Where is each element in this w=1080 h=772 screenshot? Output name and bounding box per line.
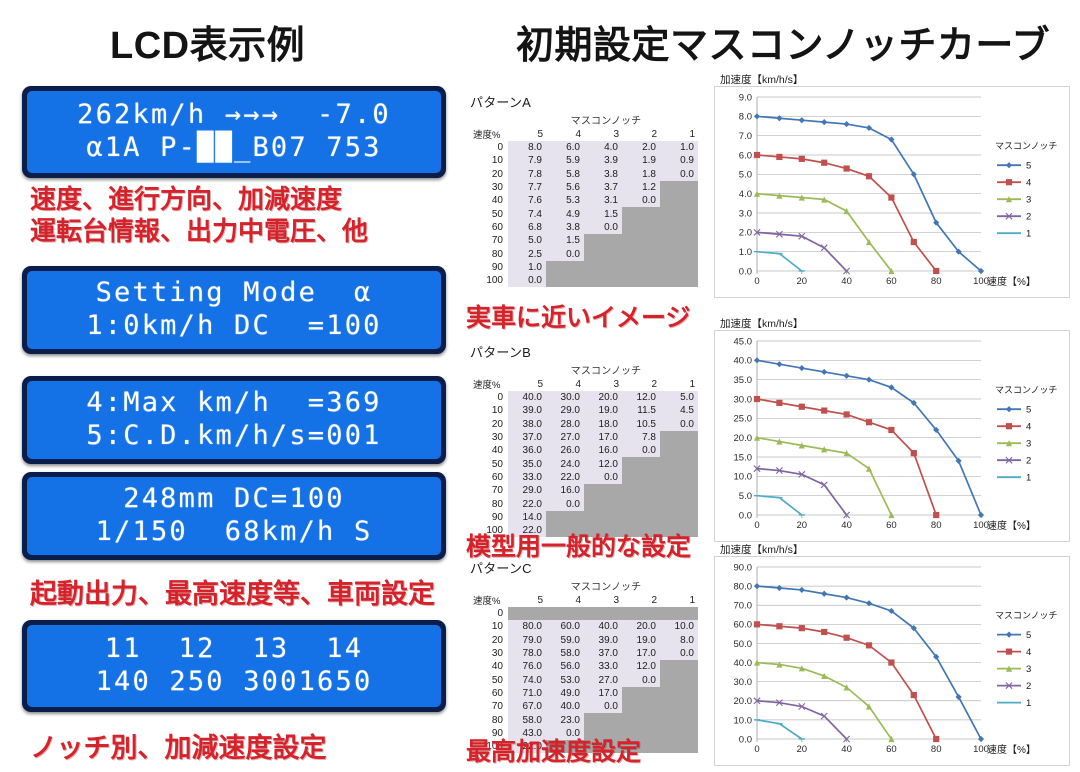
table-cell [660, 431, 698, 444]
table-cell: 10.0 [660, 620, 698, 633]
table-cell [660, 444, 698, 457]
table-row: 1080.060.040.020.010.0 [470, 620, 698, 633]
table-cell: 29.0 [546, 404, 584, 417]
table-cell [622, 207, 660, 220]
svg-text:25.0: 25.0 [734, 414, 753, 425]
row-header-speed: 80 [470, 713, 508, 726]
table-cell: 60.0 [546, 620, 584, 633]
row-header-speed: 100 [470, 274, 508, 287]
row-header-speed: 40 [470, 660, 508, 673]
table-cell: 40.0 [546, 700, 584, 713]
table-row: 802.50.0 [470, 247, 698, 260]
table-cell: 12.0 [622, 391, 660, 404]
row-header-speed: 40 [470, 444, 508, 457]
svg-text:20: 20 [797, 276, 808, 287]
table-cell: 37.0 [584, 647, 622, 660]
caption-pattern-b: 模型用一般的な設定 [466, 527, 691, 563]
table-cell [660, 673, 698, 686]
table-cell: 4.9 [546, 207, 584, 220]
table-cell: 4.0 [584, 141, 622, 154]
table-cell: 3.1 [584, 194, 622, 207]
table-cell: 3.8 [584, 168, 622, 181]
lcd-line-1: 248mm DC=100 [37, 483, 431, 516]
table-cell: 19.0 [622, 634, 660, 647]
table-row: 0 [470, 607, 698, 620]
table-cell [622, 511, 660, 524]
table-cell: 5.6 [546, 181, 584, 194]
svg-text:マスコンノッチ: マスコンノッチ [995, 385, 1057, 395]
svg-text:20.0: 20.0 [734, 696, 753, 707]
row-header-speed: 60 [470, 687, 508, 700]
table-c: 速度%5432101080.060.040.020.010.02079.059.… [470, 593, 698, 753]
table-cell [584, 484, 622, 497]
table-cell: 1.8 [622, 168, 660, 181]
table-cell: 8.0 [660, 634, 698, 647]
table-row: 901.0 [470, 261, 698, 274]
row-header-speed: 0 [470, 391, 508, 404]
table-cell: 20.0 [622, 620, 660, 633]
table-row: 8058.023.0 [470, 713, 698, 726]
table-row: 4076.056.033.012.0 [470, 660, 698, 673]
table-cell [622, 700, 660, 713]
svg-text:速度【%】: 速度【%】 [987, 519, 1036, 532]
table-cell [622, 497, 660, 510]
caption-status-fields: 速度、進行方向、加減速度 運転台情報、出力中電圧、他 [30, 184, 368, 247]
table-row: 207.85.83.81.80.0 [470, 168, 698, 181]
svg-text:35.0: 35.0 [734, 375, 753, 386]
lcd-line-1: 4:Max km/h =369 [37, 387, 431, 420]
table-cell [546, 511, 584, 524]
svg-text:1.0: 1.0 [739, 247, 752, 258]
table-cell [660, 713, 698, 726]
page-title-lcd: LCD表示例 [110, 14, 305, 69]
svg-text:60.0: 60.0 [734, 620, 753, 631]
table-cell [584, 713, 622, 726]
table-cell: 0.0 [622, 444, 660, 457]
column-header-notch-4: 4 [546, 127, 584, 141]
table-cell: 1.0 [508, 261, 546, 274]
row-header-speed: 50 [470, 673, 508, 686]
svg-text:15.0: 15.0 [734, 452, 753, 463]
svg-text:3: 3 [1026, 664, 1031, 675]
table-row: 4036.026.016.00.0 [470, 444, 698, 457]
row-header-speed: 40 [470, 194, 508, 207]
lcd-panel-vehicle-setting: 248mm DC=100 1/150 68km/h S [22, 472, 446, 560]
svg-text:マスコンノッチ: マスコンノッチ [995, 611, 1057, 621]
table-cell [660, 727, 698, 740]
table-cell: 7.8 [508, 168, 546, 181]
table-row: 7067.040.00.0 [470, 700, 698, 713]
table-cell: 0.0 [660, 418, 698, 431]
table-row: 08.06.04.02.01.0 [470, 141, 698, 154]
svg-text:4: 4 [1026, 178, 1031, 189]
table-row: 8022.00.0 [470, 497, 698, 510]
table-row: 705.01.5 [470, 234, 698, 247]
table-cell: 71.0 [508, 687, 546, 700]
table-cell: 1.2 [622, 181, 660, 194]
table-cell: 39.0 [584, 634, 622, 647]
table-cell: 22.0 [508, 497, 546, 510]
column-header-notch-2: 2 [622, 127, 660, 141]
table-row: 2079.059.039.019.08.0 [470, 634, 698, 647]
row-header-speed: 80 [470, 497, 508, 510]
table-row: 6033.022.00.0 [470, 471, 698, 484]
table-cell: 58.0 [546, 647, 584, 660]
svg-text:4: 4 [1026, 647, 1031, 658]
table-cell: 0.0 [546, 247, 584, 260]
table-cell [660, 274, 698, 287]
table-cell: 29.0 [508, 484, 546, 497]
svg-text:2: 2 [1026, 681, 1031, 692]
svg-text:80: 80 [931, 520, 942, 531]
table-cell [584, 234, 622, 247]
table-cell: 14.0 [508, 511, 546, 524]
table-cell [660, 247, 698, 260]
svg-text:マスコンノッチ: マスコンノッチ [995, 141, 1057, 151]
table-cell [584, 247, 622, 260]
table-cell [660, 700, 698, 713]
table-cell [622, 234, 660, 247]
lcd-line-2: 1/150 68km/h S [37, 516, 431, 549]
lcd-line-2: 5:C.D.km/h/s=001 [37, 420, 431, 453]
row-header-speed: 90 [470, 261, 508, 274]
table-cell [622, 247, 660, 260]
chart-c-ylabel: 加速度【km/h/s】 [720, 542, 803, 557]
table-cell [622, 261, 660, 274]
table-cell [660, 234, 698, 247]
column-header-speed: 速度% [470, 127, 508, 141]
lcd-line-2: 1:0km/h DC =100 [37, 310, 431, 343]
svg-text:60: 60 [886, 744, 897, 755]
row-header-speed: 20 [470, 418, 508, 431]
table-cell: 0.0 [660, 168, 698, 181]
column-header-notch-5: 5 [508, 377, 546, 391]
table-cell [660, 194, 698, 207]
lcd-screen: 4:Max km/h =369 5:C.D.km/h/s=001 [27, 381, 441, 459]
svg-text:5.0: 5.0 [739, 491, 752, 502]
table-cell: 36.0 [508, 444, 546, 457]
table-cell [622, 687, 660, 700]
caption-pattern-c: 最高加速度設定 [466, 732, 641, 768]
pattern-table-b: パターンB マスコンノッチ 速度%54321040.030.020.012.05… [470, 342, 706, 537]
table-cell: 33.0 [508, 471, 546, 484]
table-cell [584, 607, 622, 620]
table-cell: 1.0 [660, 141, 698, 154]
table-cell: 0.0 [660, 647, 698, 660]
table-cell: 3.8 [546, 221, 584, 234]
table-b-body: 速度%54321040.030.020.012.05.01039.029.019… [470, 377, 698, 537]
table-cell [660, 484, 698, 497]
table-cell [660, 207, 698, 220]
table-cell: 6.8 [508, 221, 546, 234]
row-header-speed: 0 [470, 141, 508, 154]
svg-text:40.0: 40.0 [734, 658, 753, 669]
table-cell: 22.0 [546, 471, 584, 484]
column-header-notch-3: 3 [584, 127, 622, 141]
table-cell: 5.0 [508, 234, 546, 247]
table-row: 1039.029.019.011.54.5 [470, 404, 698, 417]
lcd-screen: 262km/h →→→ -7.0 α1A P-██_B07 753 [27, 91, 441, 173]
notch-header-a: マスコンノッチ [506, 112, 706, 127]
table-cell: 7.9 [508, 154, 546, 167]
table-cell [546, 274, 584, 287]
table-cell: 24.0 [546, 457, 584, 470]
svg-text:0: 0 [754, 744, 759, 755]
svg-text:20: 20 [797, 520, 808, 531]
svg-text:0.0: 0.0 [739, 510, 752, 521]
table-cell [508, 607, 546, 620]
row-header-speed: 0 [470, 607, 508, 620]
column-header-notch-4: 4 [546, 593, 584, 607]
table-cell: 26.0 [546, 444, 584, 457]
svg-text:5.0: 5.0 [739, 170, 752, 181]
row-header-speed: 50 [470, 457, 508, 470]
svg-text:4.0: 4.0 [739, 189, 752, 200]
lcd-line-2: 140 250 3001650 [37, 666, 431, 699]
svg-text:40: 40 [841, 276, 852, 287]
svg-text:5: 5 [1026, 630, 1031, 641]
svg-text:90.0: 90.0 [734, 562, 753, 573]
table-row: 6071.049.017.0 [470, 687, 698, 700]
table-cell [660, 497, 698, 510]
table-row: 1000.0 [470, 274, 698, 287]
table-cell: 79.0 [508, 634, 546, 647]
lcd-line-1: 262km/h →→→ -7.0 [37, 99, 431, 132]
notch-header-b: マスコンノッチ [506, 362, 706, 377]
svg-text:1: 1 [1026, 473, 1031, 484]
svg-text:20: 20 [797, 744, 808, 755]
table-cell [584, 261, 622, 274]
svg-text:80.0: 80.0 [734, 582, 753, 593]
table-cell [660, 457, 698, 470]
lcd-panel-setting-mode: Setting Mode α 1:0km/h DC =100 [22, 266, 446, 354]
row-header-speed: 60 [470, 221, 508, 234]
table-cell: 7.6 [508, 194, 546, 207]
table-b: 速度%54321040.030.020.012.05.01039.029.019… [470, 377, 698, 537]
svg-text:1: 1 [1026, 698, 1031, 709]
svg-text:0.0: 0.0 [739, 734, 752, 745]
chart-b-ylabel: 加速度【km/h/s】 [720, 316, 803, 331]
table-cell: 0.0 [622, 673, 660, 686]
column-header-notch-5: 5 [508, 593, 546, 607]
table-cell [660, 511, 698, 524]
table-row: 3078.058.037.017.00.0 [470, 647, 698, 660]
column-header-notch-1: 1 [660, 593, 698, 607]
table-cell: 30.0 [546, 391, 584, 404]
table-cell: 40.0 [508, 391, 546, 404]
column-header-notch-2: 2 [622, 593, 660, 607]
table-cell: 8.0 [508, 141, 546, 154]
table-cell [660, 471, 698, 484]
svg-text:速度【%】: 速度【%】 [987, 275, 1036, 288]
table-cell: 7.7 [508, 181, 546, 194]
caption-pattern-a: 実車に近いイメージ [466, 298, 691, 334]
table-cell: 0.0 [584, 700, 622, 713]
svg-text:1: 1 [1026, 229, 1031, 240]
table-cell: 7.4 [508, 207, 546, 220]
table-cell [660, 607, 698, 620]
lcd-screen: 248mm DC=100 1/150 68km/h S [27, 477, 441, 555]
table-header-row: 速度%54321 [470, 593, 698, 607]
svg-text:3: 3 [1026, 195, 1031, 206]
svg-text:40: 40 [841, 744, 852, 755]
table-cell: 11.5 [622, 404, 660, 417]
svg-text:40.0: 40.0 [734, 356, 753, 367]
svg-text:0: 0 [754, 276, 759, 287]
pattern-table-a: パターンA マスコンノッチ 速度%5432108.06.04.02.01.010… [470, 92, 706, 287]
row-header-speed: 70 [470, 700, 508, 713]
table-cell [660, 660, 698, 673]
table-cell: 1.9 [622, 154, 660, 167]
table-cell [660, 740, 698, 753]
table-row: 507.44.91.5 [470, 207, 698, 220]
table-row: 9014.0 [470, 511, 698, 524]
lcd-screen: 11 12 13 14 140 250 3001650 [27, 625, 441, 707]
table-row: 5074.053.027.00.0 [470, 673, 698, 686]
table-cell: 80.0 [508, 620, 546, 633]
table-cell: 33.0 [584, 660, 622, 673]
svg-text:30.0: 30.0 [734, 394, 753, 405]
caption-line-1: 速度、進行方向、加減速度 [30, 184, 368, 216]
row-header-speed: 20 [470, 634, 508, 647]
table-cell: 0.9 [660, 154, 698, 167]
row-header-speed: 70 [470, 234, 508, 247]
svg-text:2: 2 [1026, 212, 1031, 223]
column-header-notch-2: 2 [622, 377, 660, 391]
table-cell: 16.0 [546, 484, 584, 497]
table-cell: 56.0 [546, 660, 584, 673]
table-cell: 59.0 [546, 634, 584, 647]
table-cell: 37.0 [508, 431, 546, 444]
svg-text:10.0: 10.0 [734, 472, 753, 483]
table-cell: 5.0 [660, 391, 698, 404]
svg-text:45.0: 45.0 [734, 336, 753, 347]
table-cell: 5.8 [546, 168, 584, 181]
table-cell [622, 713, 660, 726]
row-header-speed: 10 [470, 154, 508, 167]
table-cell [546, 261, 584, 274]
table-cell: 10.5 [622, 418, 660, 431]
svg-text:8.0: 8.0 [739, 112, 752, 123]
table-cell: 27.0 [584, 673, 622, 686]
table-row: 3037.027.017.07.8 [470, 431, 698, 444]
svg-text:10.0: 10.0 [734, 715, 753, 726]
table-cell: 38.0 [508, 418, 546, 431]
pattern-table-c: パターンC マスコンノッチ 速度%5432101080.060.040.020.… [470, 558, 706, 753]
table-cell: 0.0 [546, 497, 584, 510]
table-cell: 5.3 [546, 194, 584, 207]
row-header-speed: 20 [470, 168, 508, 181]
table-header-row: 速度%54321 [470, 127, 698, 141]
svg-text:0.0: 0.0 [739, 266, 752, 277]
chart-pattern-c: 0.010.020.030.040.050.060.070.080.090.00… [714, 556, 1070, 766]
row-header-speed: 30 [470, 431, 508, 444]
table-cell: 3.9 [584, 154, 622, 167]
table-cell [660, 261, 698, 274]
row-header-speed: 30 [470, 181, 508, 194]
table-cell: 12.0 [584, 457, 622, 470]
row-header-speed: 30 [470, 647, 508, 660]
table-cell [584, 274, 622, 287]
table-cell: 17.0 [622, 647, 660, 660]
table-cell: 3.7 [584, 181, 622, 194]
table-cell [622, 484, 660, 497]
table-row: 606.83.80.0 [470, 221, 698, 234]
table-row: 040.030.020.012.05.0 [470, 391, 698, 404]
table-row: 107.95.93.91.90.9 [470, 154, 698, 167]
table-cell: 7.8 [622, 431, 660, 444]
table-cell: 76.0 [508, 660, 546, 673]
svg-text:60: 60 [886, 520, 897, 531]
table-cell: 74.0 [508, 673, 546, 686]
table-cell: 17.0 [584, 687, 622, 700]
table-cell [660, 221, 698, 234]
table-cell: 39.0 [508, 404, 546, 417]
page-title-curve: 初期設定マスコンノッチカーブ [516, 14, 1050, 69]
table-cell: 5.9 [546, 154, 584, 167]
row-header-speed: 90 [470, 511, 508, 524]
svg-text:60: 60 [886, 276, 897, 287]
table-cell: 53.0 [546, 673, 584, 686]
table-cell: 1.5 [546, 234, 584, 247]
svg-text:4: 4 [1026, 422, 1031, 433]
svg-text:5: 5 [1026, 161, 1031, 172]
column-header-speed: 速度% [470, 377, 508, 391]
lcd-panel-status: 262km/h →→→ -7.0 α1A P-██_B07 753 [22, 86, 446, 178]
table-cell: 2.0 [622, 141, 660, 154]
table-cell: 17.0 [584, 431, 622, 444]
table-header-row: 速度%54321 [470, 377, 698, 391]
svg-text:0: 0 [754, 520, 759, 531]
svg-text:80: 80 [931, 744, 942, 755]
table-cell: 6.0 [546, 141, 584, 154]
table-cell: 23.0 [546, 713, 584, 726]
table-cell: 12.0 [622, 660, 660, 673]
lcd-line-2: α1A P-██_B07 753 [37, 132, 431, 165]
svg-text:速度【%】: 速度【%】 [987, 743, 1036, 756]
chartA-svg: 0.01.02.03.04.05.06.07.08.09.00204060801… [715, 87, 1069, 297]
table-cell: 35.0 [508, 457, 546, 470]
row-header-speed: 70 [470, 484, 508, 497]
chartB-svg: 0.05.010.015.020.025.030.035.040.045.002… [715, 331, 1069, 541]
table-row: 307.75.63.71.2 [470, 181, 698, 194]
table-cell: 28.0 [546, 418, 584, 431]
table-cell: 16.0 [584, 444, 622, 457]
chartC-svg: 0.010.020.030.040.050.060.070.080.090.00… [715, 557, 1069, 765]
table-cell: 49.0 [546, 687, 584, 700]
column-header-notch-4: 4 [546, 377, 584, 391]
table-cell: 67.0 [508, 700, 546, 713]
lcd-panel-notch-table: 11 12 13 14 140 250 3001650 [22, 620, 446, 712]
svg-text:2.0: 2.0 [739, 228, 752, 239]
table-cell [660, 687, 698, 700]
row-header-speed: 10 [470, 620, 508, 633]
table-cell [622, 607, 660, 620]
caption-vehicle-setting: 起動出力、最高速度等、車両設定 [30, 572, 435, 611]
table-cell [622, 457, 660, 470]
table-row: 7029.016.0 [470, 484, 698, 497]
table-a-body: 速度%5432108.06.04.02.01.0107.95.93.91.90.… [470, 127, 698, 287]
lcd-screen: Setting Mode α 1:0km/h DC =100 [27, 271, 441, 349]
chart-pattern-b: 0.05.010.015.020.025.030.035.040.045.002… [714, 330, 1070, 542]
svg-text:5: 5 [1026, 405, 1031, 416]
column-header-speed: 速度% [470, 593, 508, 607]
table-cell [622, 274, 660, 287]
caption-line-2: 運転台情報、出力中電圧、他 [30, 216, 368, 248]
notch-header-c: マスコンノッチ [506, 578, 706, 593]
svg-text:80: 80 [931, 276, 942, 287]
svg-text:3: 3 [1026, 439, 1031, 450]
